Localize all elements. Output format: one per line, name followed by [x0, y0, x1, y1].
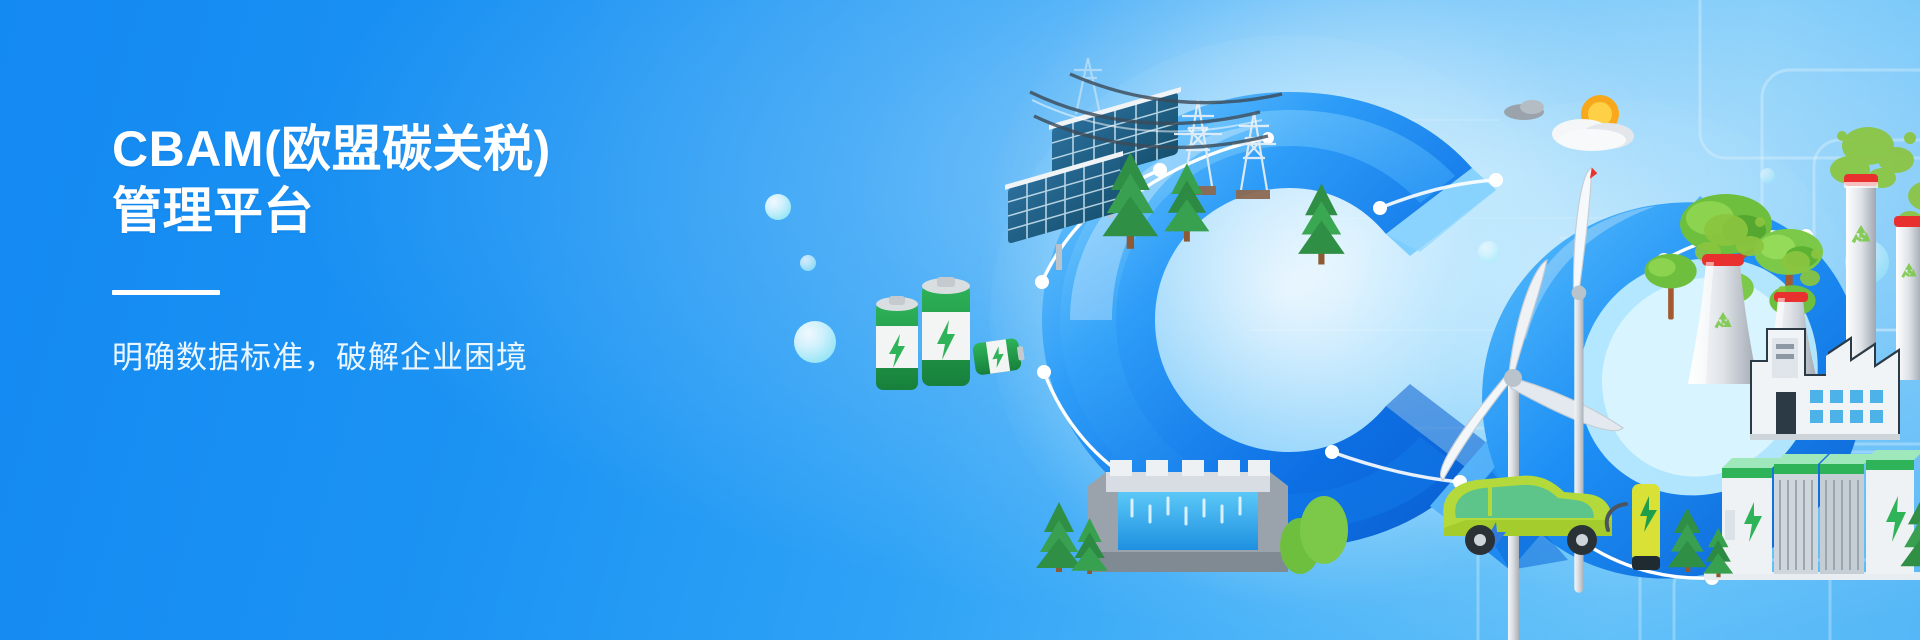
hero-subtitle: 明确数据标准，破解企业困境: [112, 337, 752, 379]
carbon-neutral-illustration: [820, 20, 1920, 640]
page-title: CBAM(欧盟碳关税) 管理平台: [112, 118, 752, 242]
decorative-bubble: [800, 255, 816, 271]
decorative-bubble: [765, 194, 791, 220]
hero-banner: CBAM(欧盟碳关税) 管理平台 明确数据标准，破解企业困境: [0, 0, 1920, 640]
hero-copy: CBAM(欧盟碳关税) 管理平台 明确数据标准，破解企业困境: [112, 118, 752, 379]
title-divider: [112, 290, 220, 295]
